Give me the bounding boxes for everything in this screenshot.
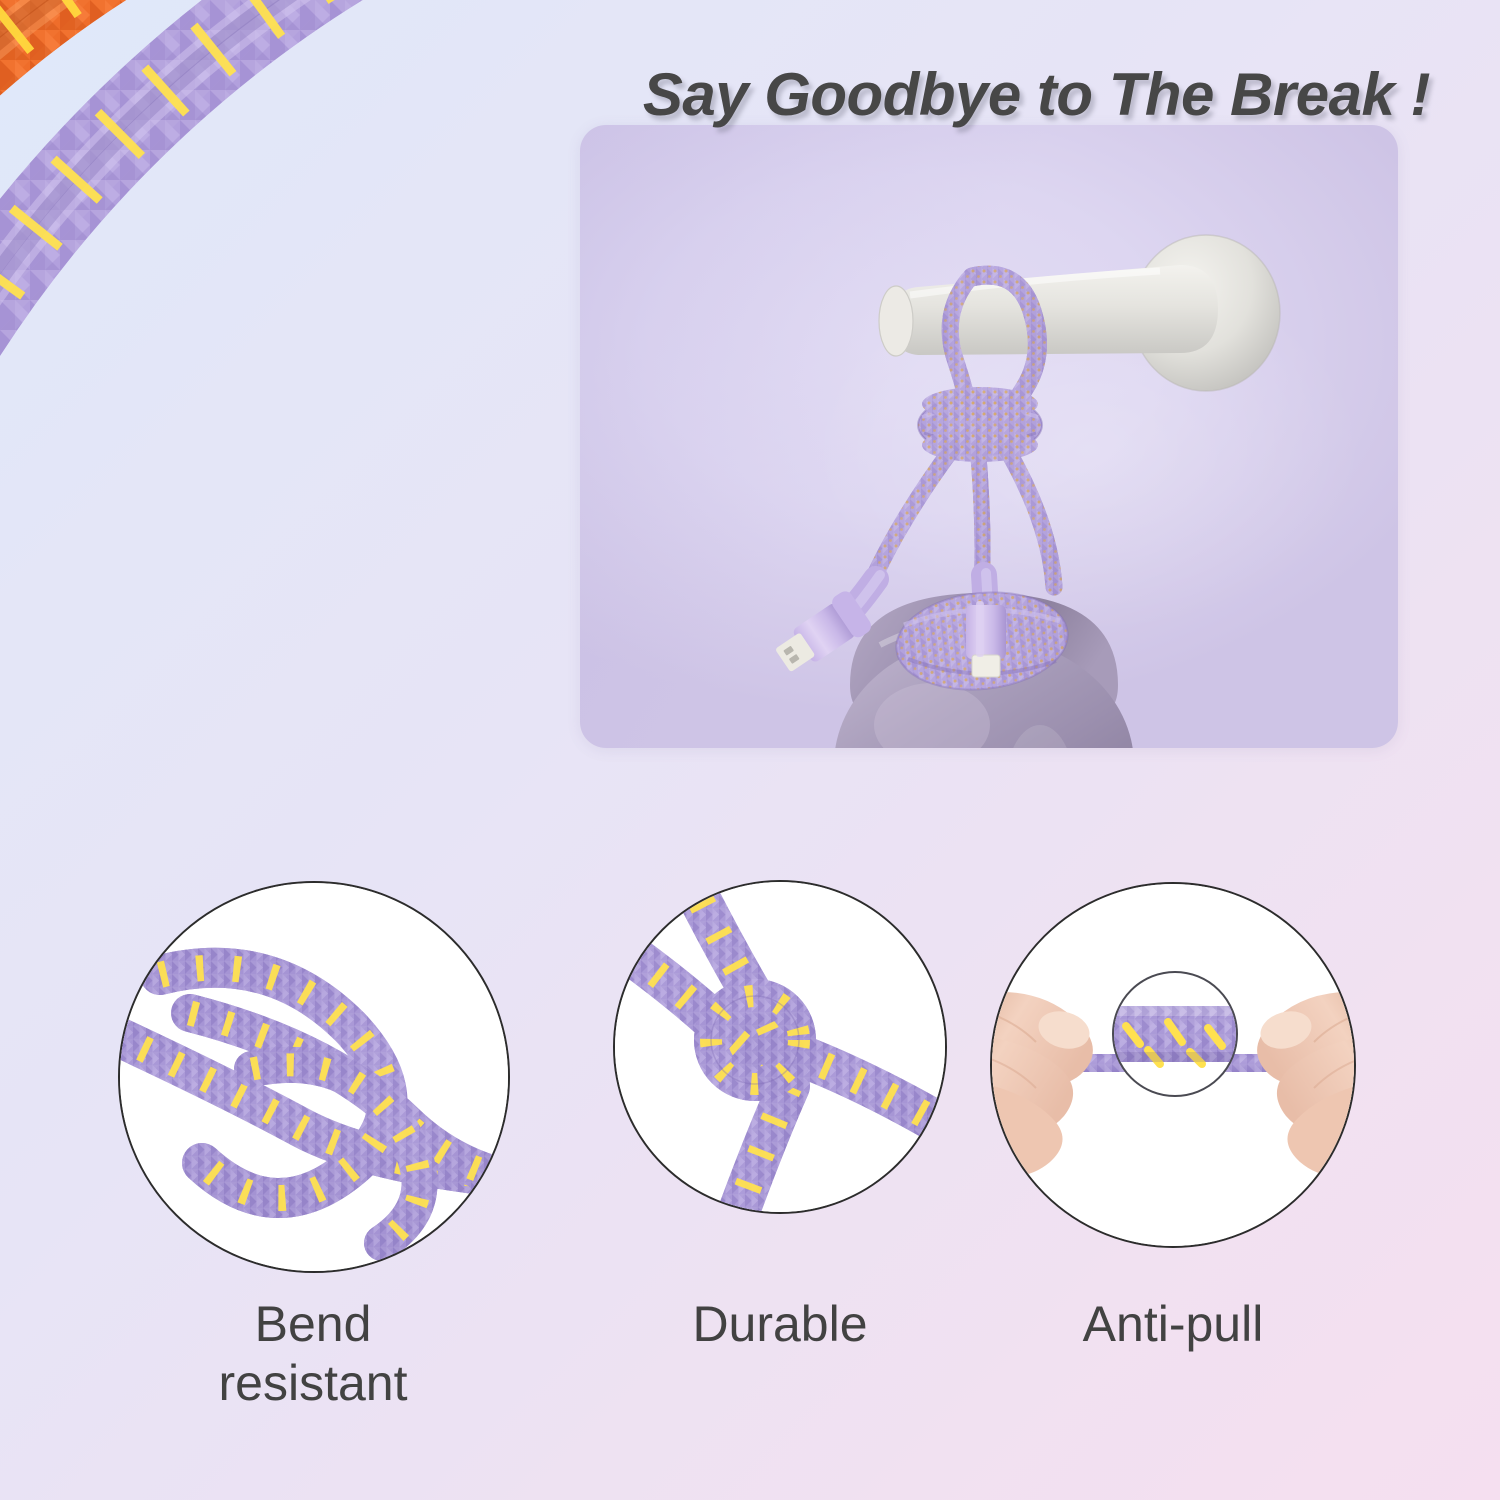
feature-label-line1: Bend: [148, 1295, 478, 1354]
feature-image-durable: [613, 880, 947, 1214]
feature-image-bend-resistant: [118, 881, 510, 1273]
feature-image-anti-pull: [990, 882, 1356, 1248]
feature-label-bend-resistant: Bend resistant: [148, 1295, 478, 1413]
hero-illustration: [580, 125, 1398, 748]
feature-label-durable: Durable: [615, 1295, 945, 1354]
hero-demo-panel: [580, 125, 1398, 748]
feature-label-line1: Anti-pull: [1008, 1295, 1338, 1354]
page-title: Say Goodbye to The Break !: [0, 60, 1430, 129]
lightning-connector: [966, 601, 1006, 677]
wall-hook-bar: [879, 265, 1218, 356]
feature-label-anti-pull: Anti-pull: [1008, 1295, 1338, 1354]
feature-label-line1: Durable: [615, 1295, 945, 1354]
product-graphic-canvas: Say Goodbye to The Break !: [0, 0, 1500, 1500]
feature-label-line2: resistant: [148, 1354, 478, 1413]
